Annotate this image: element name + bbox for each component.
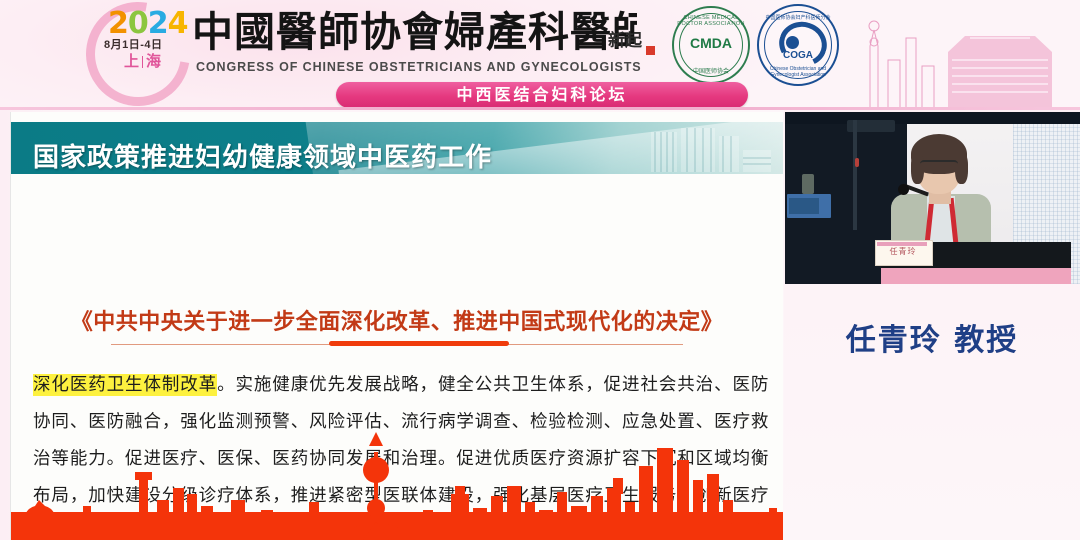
podium-nameplate-text: 任青玲 bbox=[875, 246, 931, 257]
congress-title-en: CONGRESS OF CHINESE OBSTETRICIANS AND GY… bbox=[196, 60, 616, 74]
logo-city: 上海 bbox=[124, 50, 161, 71]
cmda-arc-bottom: 中国医师协会 bbox=[674, 66, 748, 75]
cmda-abbr: CMDA bbox=[674, 35, 748, 51]
video-wall-box bbox=[802, 174, 814, 194]
logo-city-divider bbox=[142, 56, 143, 68]
speaker-name-label: 任青玲 教授 bbox=[784, 315, 1080, 359]
broadcast-screen: 2024 8月1日-4日 上海 中國醫師协會婦產科醫師大會 新起 CONGRES… bbox=[0, 0, 1080, 540]
conference-header: 2024 8月1日-4日 上海 中國醫師协會婦產科醫師大會 新起 CONGRES… bbox=[0, 0, 1080, 110]
live-video-feed[interactable]: 任青玲 bbox=[785, 112, 1080, 284]
congress-title-cn-suffix: 新起 bbox=[608, 26, 642, 51]
speaker-glasses-icon bbox=[920, 160, 958, 171]
video-indicator-light bbox=[855, 158, 859, 167]
cmda-arc-top: CHINESE MEDICAL DOCTOR ASSOCIATION bbox=[674, 15, 748, 27]
video-monitor-screen bbox=[789, 198, 819, 214]
coga-dot-shape bbox=[786, 36, 799, 49]
slide-title: 国家政策推进妇幼健康领域中医药工作 bbox=[33, 132, 593, 174]
shanghai-skyline-icon bbox=[11, 430, 783, 540]
congress-title-cn: 中國醫師协會婦產科醫師大會 bbox=[192, 4, 637, 60]
podium-skirt bbox=[881, 268, 1071, 284]
presentation-slide: 国家政策推进妇幼健康领域中医药工作 《中共中央关于进一步全面深化改革、推进中国式… bbox=[10, 112, 783, 540]
speaker-panel: 任青玲 任青玲 教授 bbox=[784, 110, 1080, 540]
coga-abbr: COGA bbox=[759, 50, 837, 61]
logo-city-right: 海 bbox=[146, 52, 161, 70]
header-skyline-icon bbox=[830, 0, 1080, 110]
coga-arc-top: 中国医师协会妇产科医师分会 bbox=[759, 14, 837, 21]
logo-year-digit-4: 4 bbox=[168, 6, 188, 41]
seal-stamp-icon bbox=[646, 46, 655, 55]
video-top-shadow bbox=[785, 112, 1080, 124]
microphone-icon bbox=[898, 184, 909, 195]
slide-building-icon bbox=[637, 126, 777, 172]
highlighted-text-run: 深化医药卫生体制改革 bbox=[33, 374, 217, 396]
forum-banner: 中西医结合妇科论坛 bbox=[336, 82, 748, 108]
slide-divider-accent bbox=[329, 341, 509, 346]
coga-arc-bottom: Chinese Obstetrician and Gynecologist As… bbox=[759, 66, 837, 78]
cmda-emblem-icon: CHINESE MEDICAL DOCTOR ASSOCIATION CMDA … bbox=[672, 6, 750, 84]
slide-frame: 国家政策推进妇幼健康领域中医药工作 《中共中央关于进一步全面深化改革、推进中国式… bbox=[0, 110, 784, 540]
logo-city-left: 上 bbox=[124, 52, 139, 70]
coga-swirl-shape bbox=[773, 16, 832, 73]
slide-title-bar: 国家政策推进妇幼健康领域中医药工作 bbox=[11, 122, 783, 174]
coga-emblem-icon: 中国医师协会妇产科医师分会 COGA Chinese Obstetrician … bbox=[757, 4, 839, 86]
video-stand-pole bbox=[853, 120, 857, 230]
slide-document-title: 《中共中央关于进一步全面深化改革、推进中国式现代化的决定》 bbox=[11, 304, 783, 336]
